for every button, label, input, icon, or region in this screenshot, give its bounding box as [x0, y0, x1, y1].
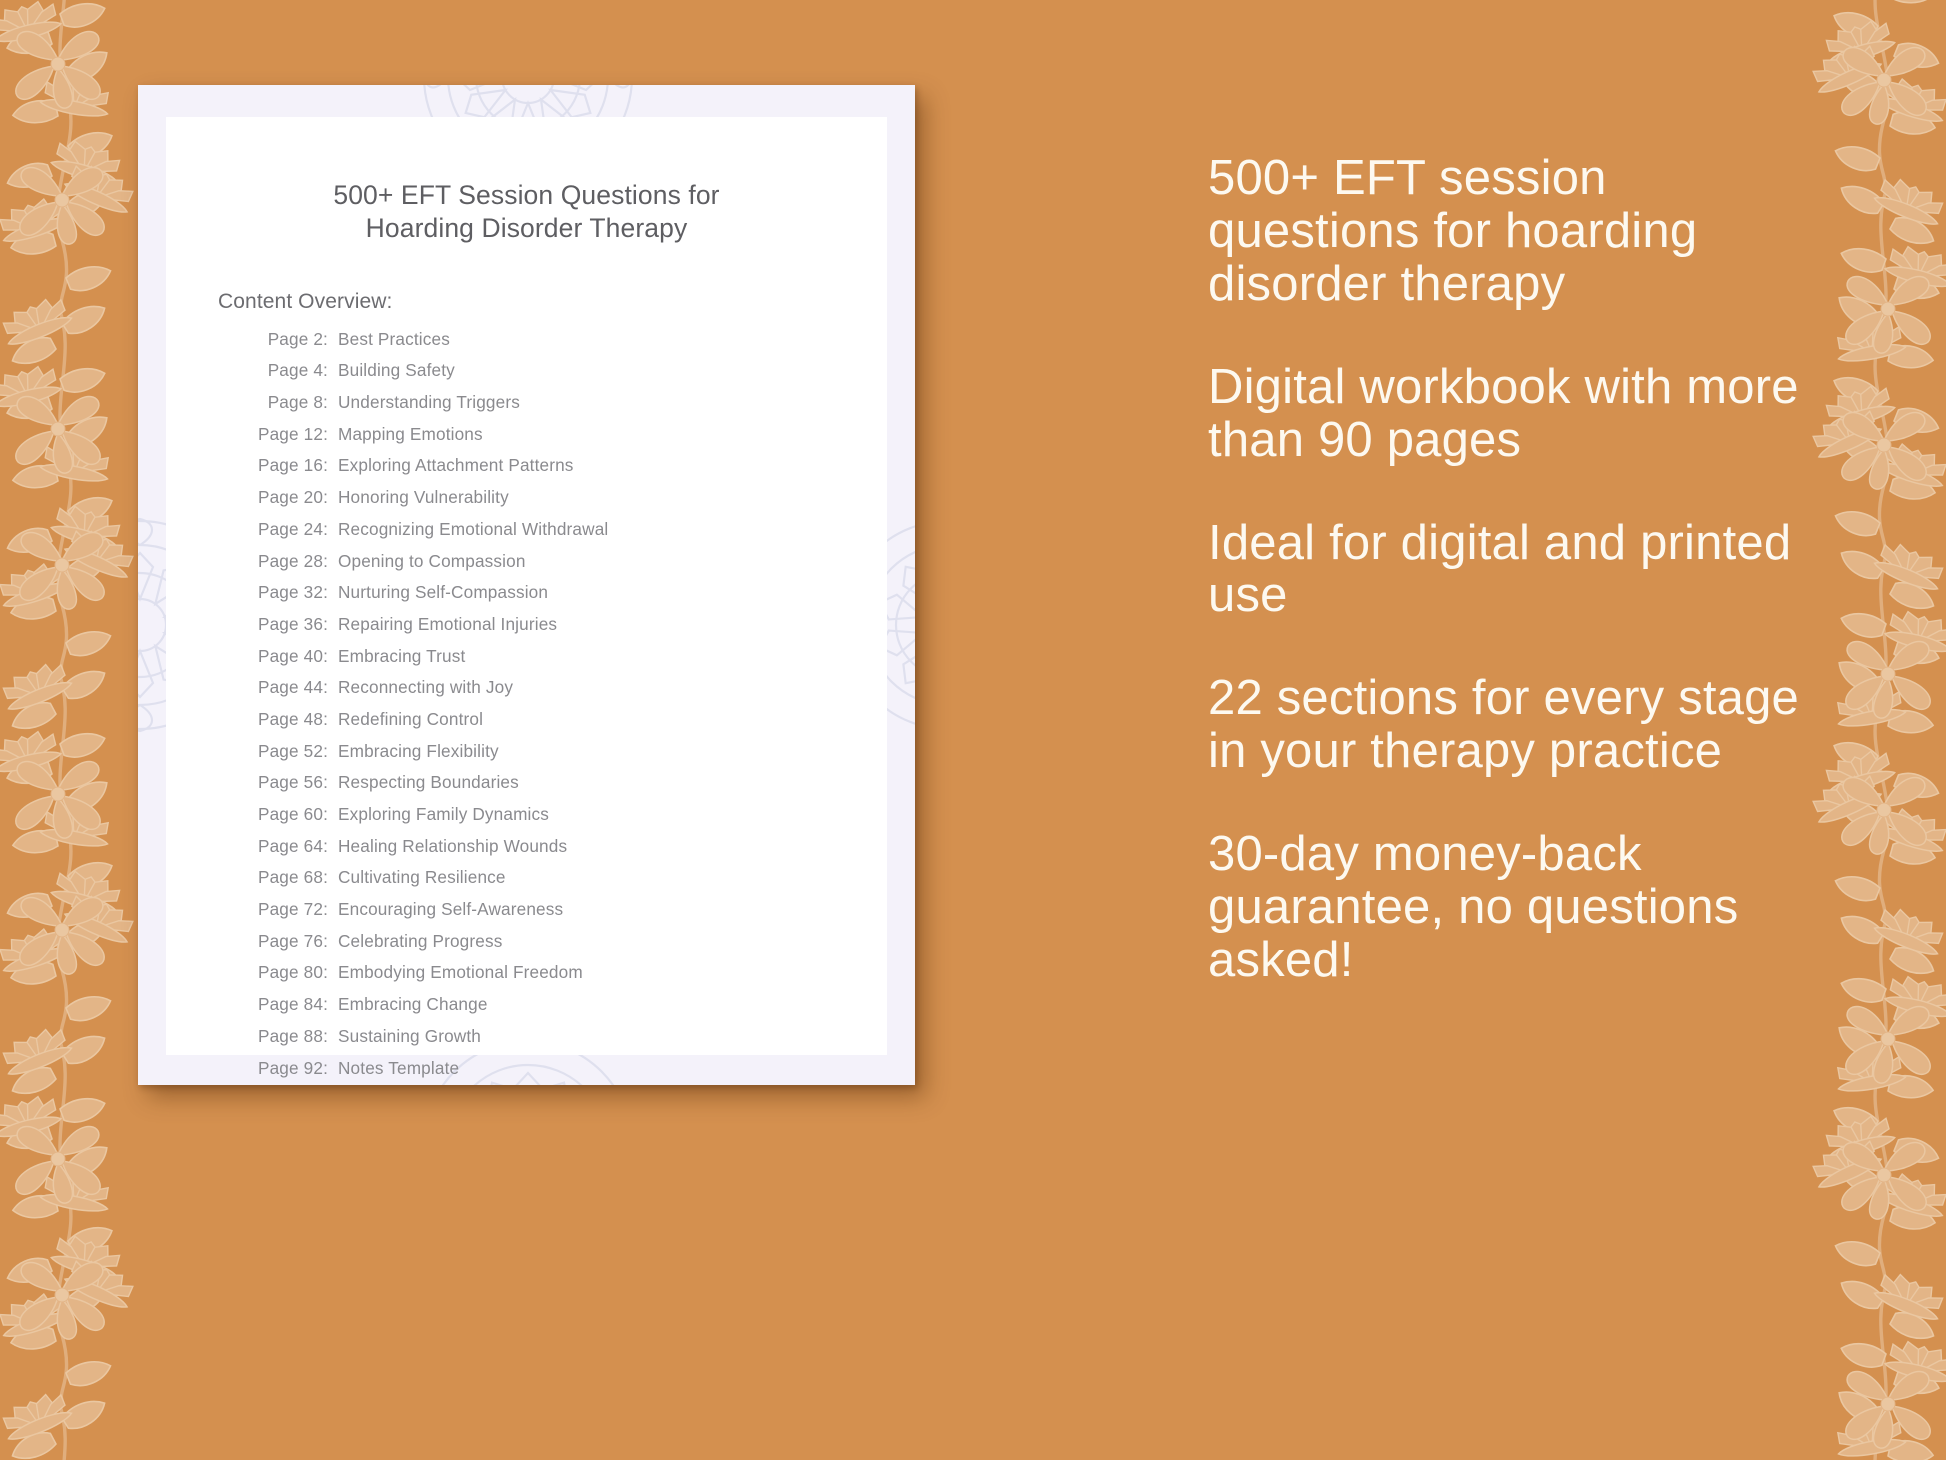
toc-row: Page 2:Best Practices — [242, 331, 887, 363]
toc-row: Page 72:Encouraging Self-Awareness — [242, 901, 887, 933]
table-of-contents: Page 2:Best PracticesPage 4:Building Saf… — [242, 331, 887, 1085]
toc-page-number: Page 64: — [242, 838, 328, 855]
toc-section-title: Notes Template — [338, 1060, 459, 1077]
floral-vine-group-mirrored — [1808, 0, 1946, 1460]
toc-row: Page 56:Respecting Boundaries — [242, 774, 887, 806]
toc-row: Page 28:Opening to Compassion — [242, 553, 887, 585]
toc-row: Page 84:Embracing Change — [242, 996, 887, 1028]
toc-section-title: Best Practices — [338, 331, 450, 348]
toc-page-number: Page 32: — [242, 584, 328, 601]
toc-section-title: Building Safety — [338, 362, 455, 379]
promo-block: 30-day money-back guarantee, no question… — [1208, 828, 1828, 987]
toc-page-number: Page 28: — [242, 553, 328, 570]
toc-page-number: Page 36: — [242, 616, 328, 633]
toc-section-title: Repairing Emotional Injuries — [338, 616, 557, 633]
toc-section-title: Redefining Control — [338, 711, 483, 728]
promo-block: Digital workbook with more than 90 pages — [1208, 361, 1828, 467]
page-title-line-2: Hoarding Disorder Therapy — [366, 213, 688, 243]
toc-row: Page 24:Recognizing Emotional Withdrawal — [242, 521, 887, 553]
toc-page-number: Page 20: — [242, 489, 328, 506]
toc-page-number: Page 40: — [242, 648, 328, 665]
toc-page-number: Page 52: — [242, 743, 328, 760]
toc-section-title: Celebrating Progress — [338, 933, 502, 950]
toc-page-number: Page 76: — [242, 933, 328, 950]
toc-section-title: Encouraging Self-Awareness — [338, 901, 563, 918]
content-overview-label: Content Overview: — [218, 290, 887, 314]
document-page: 500+ EFT Session Questions for Hoarding … — [166, 117, 887, 1055]
document-mockup: 500+ EFT Session Questions for Hoarding … — [138, 85, 915, 1085]
toc-row: Page 92:Notes Template — [242, 1060, 887, 1085]
toc-section-title: Respecting Boundaries — [338, 774, 519, 791]
promo-block: Ideal for digital and printed use — [1208, 517, 1828, 623]
toc-page-number: Page 44: — [242, 679, 328, 696]
toc-section-title: Sustaining Growth — [338, 1028, 481, 1045]
toc-page-number: Page 92: — [242, 1060, 328, 1077]
toc-section-title: Cultivating Resilience — [338, 869, 506, 886]
toc-section-title: Embodying Emotional Freedom — [338, 964, 583, 981]
page-title-line-1: 500+ EFT Session Questions for — [333, 180, 719, 210]
toc-section-title: Nurturing Self-Compassion — [338, 584, 548, 601]
toc-page-number: Page 4: — [242, 362, 328, 379]
toc-section-title: Recognizing Emotional Withdrawal — [338, 521, 608, 538]
toc-row: Page 44:Reconnecting with Joy — [242, 679, 887, 711]
toc-row: Page 40:Embracing Trust — [242, 648, 887, 680]
toc-page-number: Page 56: — [242, 774, 328, 791]
toc-section-title: Embracing Change — [338, 996, 488, 1013]
toc-row: Page 76:Celebrating Progress — [242, 933, 887, 965]
toc-section-title: Opening to Compassion — [338, 553, 526, 570]
document-frame: 500+ EFT Session Questions for Hoarding … — [138, 85, 915, 1085]
toc-section-title: Embracing Flexibility — [338, 743, 499, 760]
toc-page-number: Page 16: — [242, 457, 328, 474]
toc-page-number: Page 60: — [242, 806, 328, 823]
toc-row: Page 64:Healing Relationship Wounds — [242, 838, 887, 870]
toc-section-title: Honoring Vulnerability — [338, 489, 509, 506]
toc-row: Page 36:Repairing Emotional Injuries — [242, 616, 887, 648]
page-title: 500+ EFT Session Questions for Hoarding … — [236, 179, 817, 245]
toc-page-number: Page 88: — [242, 1028, 328, 1045]
floral-vine-group — [0, 0, 138, 1460]
promo-block: 22 sections for every stage in your ther… — [1208, 672, 1828, 778]
toc-row: Page 88:Sustaining Growth — [242, 1028, 887, 1060]
toc-page-number: Page 80: — [242, 964, 328, 981]
toc-row: Page 68:Cultivating Resilience — [242, 869, 887, 901]
toc-row: Page 4:Building Safety — [242, 362, 887, 394]
toc-row: Page 32:Nurturing Self-Compassion — [242, 584, 887, 616]
toc-row: Page 52:Embracing Flexibility — [242, 743, 887, 775]
toc-row: Page 60:Exploring Family Dynamics — [242, 806, 887, 838]
toc-page-number: Page 24: — [242, 521, 328, 538]
toc-page-number: Page 72: — [242, 901, 328, 918]
toc-section-title: Healing Relationship Wounds — [338, 838, 567, 855]
toc-row: Page 48:Redefining Control — [242, 711, 887, 743]
promo-block: 500+ EFT session questions for hoarding … — [1208, 152, 1828, 311]
toc-row: Page 16:Exploring Attachment Patterns — [242, 457, 887, 489]
toc-section-title: Reconnecting with Joy — [338, 679, 513, 696]
toc-row: Page 20:Honoring Vulnerability — [242, 489, 887, 521]
toc-row: Page 8:Understanding Triggers — [242, 394, 887, 426]
toc-section-title: Exploring Family Dynamics — [338, 806, 549, 823]
toc-section-title: Exploring Attachment Patterns — [338, 457, 574, 474]
toc-row: Page 12:Mapping Emotions — [242, 426, 887, 458]
toc-page-number: Page 2: — [242, 331, 328, 348]
toc-page-number: Page 68: — [242, 869, 328, 886]
toc-page-number: Page 12: — [242, 426, 328, 443]
toc-section-title: Understanding Triggers — [338, 394, 520, 411]
toc-row: Page 80:Embodying Emotional Freedom — [242, 964, 887, 996]
toc-section-title: Embracing Trust — [338, 648, 465, 665]
toc-section-title: Mapping Emotions — [338, 426, 483, 443]
toc-page-number: Page 8: — [242, 394, 328, 411]
toc-page-number: Page 48: — [242, 711, 328, 728]
promo-text-column: 500+ EFT session questions for hoarding … — [1208, 152, 1828, 987]
toc-page-number: Page 84: — [242, 996, 328, 1013]
